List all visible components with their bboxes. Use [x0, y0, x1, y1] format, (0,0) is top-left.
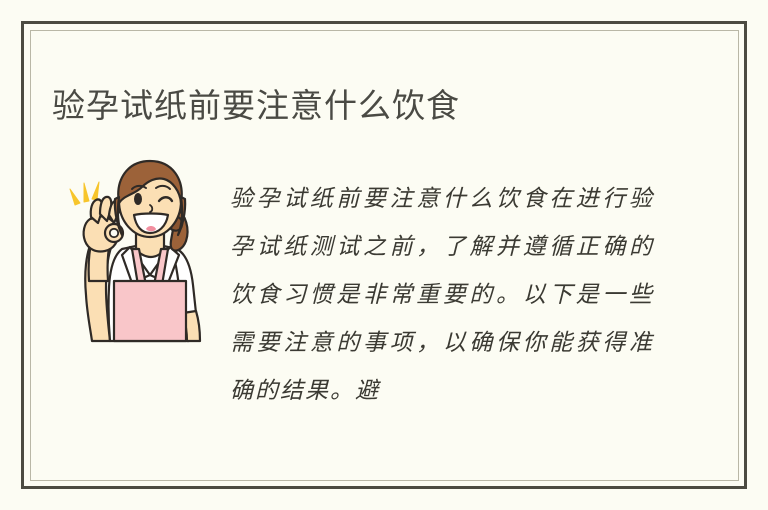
article-content-row: 验孕试纸前要注意什么饮食在进行验孕试纸测试之前，了解并遵循正确的饮食习惯是非常重… [52, 140, 712, 420]
article-body-text: 验孕试纸前要注意什么饮食在进行验孕试纸测试之前，了解并遵循正确的饮食习惯是非常重… [230, 175, 654, 415]
article-card: 验孕试纸前要注意什么饮食 [0, 0, 768, 510]
page-title: 验孕试纸前要注意什么饮食 [52, 84, 460, 128]
winking-woman-ok-gesture-illustration [60, 145, 218, 357]
